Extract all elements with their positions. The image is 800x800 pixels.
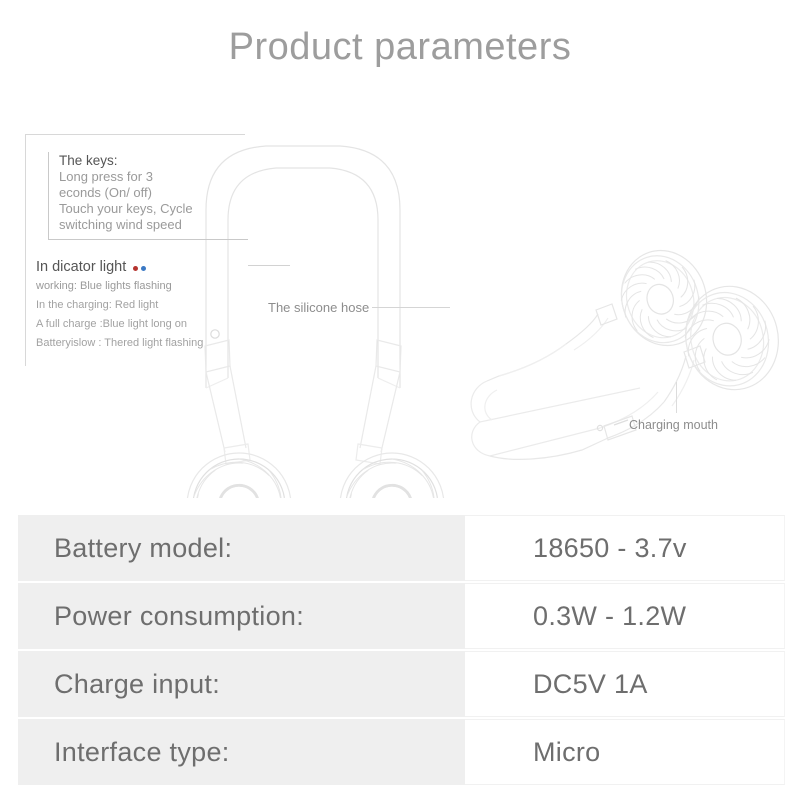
- param-value-cell: 18650 - 3.7v: [465, 515, 785, 581]
- indicator-line-4: Batteryislow : Thered light flashing: [36, 334, 251, 353]
- red-indicator-dot-icon: [133, 266, 138, 271]
- param-value-cell: DC5V 1A: [465, 651, 785, 717]
- param-value-text: DC5V 1A: [533, 669, 648, 700]
- param-value-text: 0.3W - 1.2W: [533, 601, 686, 632]
- indicator-line-1: working: Blue lights flashing: [36, 277, 251, 296]
- keys-line-3: Touch your keys, Cycle: [59, 201, 248, 217]
- param-label-text: Battery model:: [54, 533, 232, 564]
- fan-head-left: [178, 443, 301, 498]
- param-label-text: Interface type:: [54, 737, 230, 768]
- keys-heading: The keys:: [59, 152, 248, 169]
- indicator-line-2: In the charging: Red light: [36, 296, 251, 315]
- keys-leader-line: [248, 265, 290, 266]
- page-title: Product parameters: [0, 28, 800, 66]
- table-row: Interface type: Micro: [0, 719, 800, 785]
- fan-head-right: [331, 443, 454, 498]
- param-label-cell: Interface type:: [18, 719, 465, 785]
- param-label-text: Charge input:: [54, 669, 220, 700]
- callout-charging-mouth: Charging mouth: [629, 418, 718, 432]
- keys-line-1: Long press for 3: [59, 169, 248, 185]
- param-label-text: Power consumption:: [54, 601, 304, 632]
- blue-indicator-dot-icon: [141, 266, 146, 271]
- callout-silicone-hose: The silicone hose: [268, 300, 369, 315]
- keys-line-2: econds (On/ off): [59, 185, 248, 201]
- table-row: Battery model: 18650 - 3.7v: [0, 515, 800, 581]
- parameters-table: Battery model: 18650 - 3.7v Power consum…: [0, 515, 800, 787]
- param-value-cell: Micro: [465, 719, 785, 785]
- param-value-text: 18650 - 3.7v: [533, 533, 687, 564]
- param-label-cell: Power consumption:: [18, 583, 465, 649]
- indicator-line-3: A full charge :Blue light long on: [36, 315, 251, 334]
- callout-charging-mouth-leader: [676, 382, 677, 413]
- indicator-heading-row: In dicator light: [36, 257, 251, 277]
- indicator-light-annotation: In dicator light working: Blue lights fl…: [36, 257, 251, 353]
- param-label-cell: Charge input:: [18, 651, 465, 717]
- keys-annotation: The keys: Long press for 3 econds (On/ o…: [48, 152, 248, 240]
- keys-line-4: switching wind speed: [59, 217, 248, 233]
- param-label-cell: Battery model:: [18, 515, 465, 581]
- callout-silicone-hose-leader: [372, 307, 450, 308]
- table-row: Charge input: DC5V 1A: [0, 651, 800, 717]
- indicator-heading: In dicator light: [36, 257, 126, 277]
- param-value-cell: 0.3W - 1.2W: [465, 583, 785, 649]
- table-row: Power consumption: 0.3W - 1.2W: [0, 583, 800, 649]
- param-value-text: Micro: [533, 737, 601, 768]
